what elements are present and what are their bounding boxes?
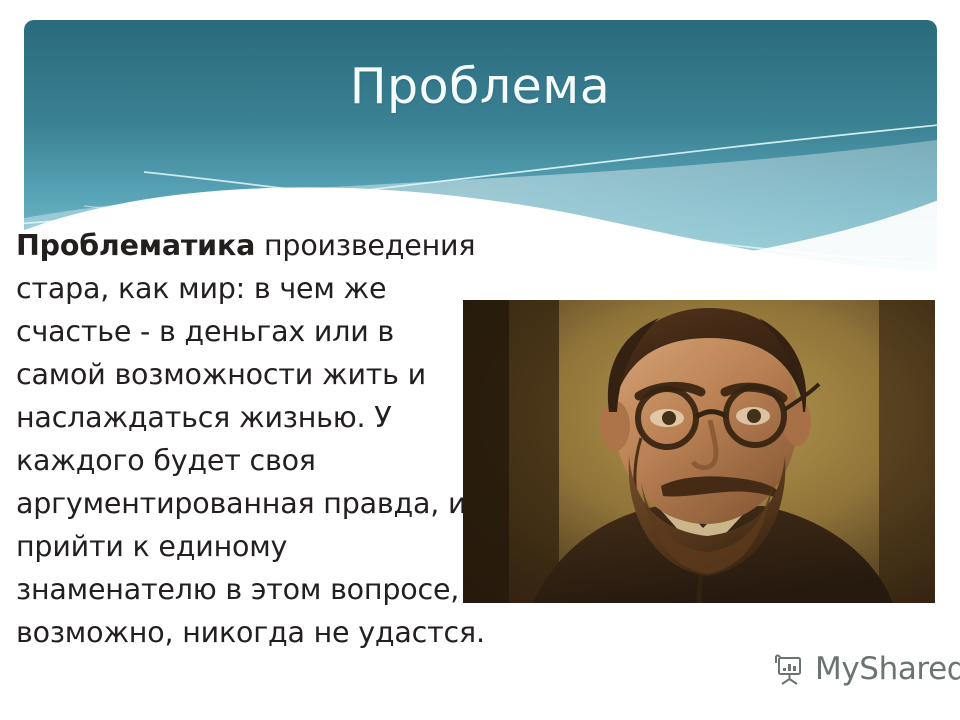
page-title: Проблема	[0, 60, 960, 114]
portrait-illustration	[463, 300, 935, 603]
flipchart-icon	[772, 652, 806, 686]
body-rest-text: произведения стара, как мир: в чем же сч…	[16, 229, 485, 649]
myshared-watermark: MyShared	[772, 652, 960, 686]
presentation-slide: Проблема Проблематика произведения стара…	[0, 0, 960, 720]
body-lead-word: Проблематика	[16, 229, 255, 262]
watermark-label: MyShared	[815, 654, 960, 685]
slide-body-text: Проблематика произведения стара, как мир…	[16, 224, 486, 654]
portrait-photo	[463, 300, 935, 603]
flipchart-icon-svg	[772, 652, 806, 686]
